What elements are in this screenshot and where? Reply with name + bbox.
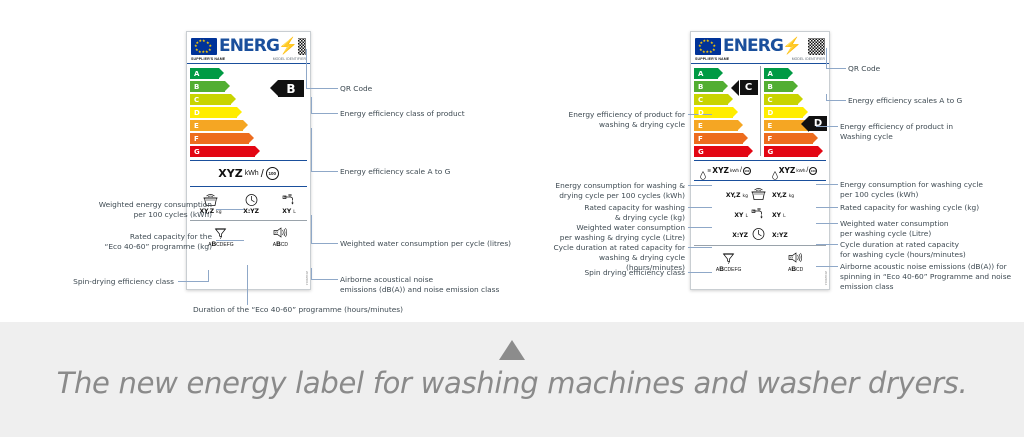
supplier-name: SUPPLIER'S NAME bbox=[191, 57, 225, 61]
eu-flag-icon: ★★ ★★ ★★ ★★ ★★ ★ bbox=[695, 38, 721, 55]
model-identifier: MODEL IDENTIFIER bbox=[273, 57, 306, 61]
scale-letter-e: E bbox=[768, 122, 773, 130]
qr-code-icon bbox=[298, 38, 306, 55]
scale-letter-a: A bbox=[194, 70, 199, 78]
dual-scale-container: A B C D E F G C A B C D E F G D bbox=[691, 64, 829, 158]
hundred-cycles-icon: 100 bbox=[266, 167, 279, 180]
leader-scales-a-to-g bbox=[826, 100, 846, 101]
lightning-bolt-icon: ⚡ bbox=[782, 36, 802, 56]
scale-row-g: G bbox=[761, 145, 830, 158]
washing-drying-consumption: ≋ XYZ kWh / 100 bbox=[691, 163, 760, 178]
product-energy-class-mark: B bbox=[278, 80, 304, 97]
label-subheader: SUPPLIER'S NAME MODEL IDENTIFIER bbox=[187, 57, 310, 64]
leader-noise-emissions bbox=[311, 279, 338, 280]
divider-above-consumption-2 bbox=[694, 160, 826, 161]
spin-class-cell-2: ABCDEFG bbox=[716, 250, 742, 273]
leader-programme-duration bbox=[247, 265, 248, 305]
washing-class-mark: D bbox=[809, 116, 827, 131]
energy-value-washing: XYZ bbox=[779, 166, 796, 175]
divider-above-consumption bbox=[190, 160, 307, 161]
scale-row-f: F bbox=[761, 132, 830, 145]
annotation-capacity-washing-drying: Rated capacity for washing & drying cycl… bbox=[560, 203, 685, 223]
caption-text: The new energy label for washing machine… bbox=[0, 366, 1024, 400]
annotation-water-washing-cycle: Weighted water consumption per washing c… bbox=[840, 219, 1000, 239]
svg-text:XY: XY bbox=[790, 257, 794, 260]
washer-dryer-energy-label: ★★ ★★ ★★ ★★ ★★ ★ ENERG ⚡ SUPPLIER'S NAME… bbox=[690, 31, 830, 290]
duration-row: X:YZ X:YZ bbox=[691, 223, 829, 243]
annotation-class-of-product: Energy efficiency class of product bbox=[340, 109, 465, 119]
annotation-class-washing-drying: Energy efficiency of product for washing… bbox=[550, 110, 685, 130]
leader-class-of-product-v bbox=[311, 97, 312, 114]
water-row: XY L XY L bbox=[691, 203, 829, 223]
water-drop-icon bbox=[700, 167, 706, 175]
noise-speaker-icon: XY bbox=[272, 225, 289, 240]
energy-efficiency-scale: A B C D E F G B bbox=[187, 64, 310, 158]
clock-icon bbox=[243, 192, 260, 207]
scale-row-a: A bbox=[761, 67, 830, 80]
dry-waves-icon: ≋ bbox=[707, 168, 711, 174]
leader-capacity-washing-cycle bbox=[816, 207, 838, 208]
duration-pictogram-cell: X:YZ bbox=[243, 192, 260, 215]
leader-weighted-water bbox=[311, 243, 338, 244]
energy-unit: kWh bbox=[796, 168, 805, 173]
water-tap-icon bbox=[281, 192, 298, 207]
hundred-cycles-icon: 100 bbox=[809, 167, 817, 175]
leader-energy-washing-cycle bbox=[816, 184, 838, 185]
annotation-qr-code: QR Code bbox=[340, 84, 372, 94]
scale-row-f: F bbox=[691, 132, 760, 145]
annotation-capacity-washing-cycle: Rated capacity for washing cycle (kg) bbox=[840, 203, 1000, 213]
leader-weighted-water-v bbox=[311, 215, 312, 244]
scale-letter-b: B bbox=[194, 83, 199, 91]
divider-above-classes bbox=[190, 220, 307, 221]
annotation-spin-drying-class: Spin-drying efficiency class bbox=[62, 277, 174, 287]
scale-letter-f: F bbox=[698, 135, 703, 143]
washing-consumption: XYZ kWh / 100 bbox=[760, 163, 829, 178]
leader-qr-code bbox=[306, 88, 338, 89]
washing-scale-column: A B C D E F G D bbox=[761, 64, 830, 158]
water-pictogram-cell: XY L bbox=[281, 192, 298, 215]
duration-washing-value: X:YZ bbox=[772, 232, 788, 239]
annotation-scale-a-to-g: Energy efficiency scale A to G bbox=[340, 167, 450, 177]
scale-letter-a: A bbox=[768, 70, 773, 78]
capacity-row: XY,Z kg XY,Z kg bbox=[691, 183, 829, 203]
water-tap-icon bbox=[750, 206, 767, 221]
scale-letter-d: D bbox=[194, 109, 200, 117]
scale-row-a: A bbox=[691, 67, 760, 80]
divider-below-consumption-2 bbox=[694, 180, 826, 181]
leader-qr-code-2-v bbox=[826, 48, 827, 69]
noise-class-cell-2: XY ABCD bbox=[787, 250, 804, 273]
energy-consumption-row: XYZ kWh / 100 bbox=[187, 163, 310, 184]
scale-row-e: E bbox=[187, 119, 310, 132]
scale-letter-g: G bbox=[194, 148, 200, 156]
annotation-rated-capacity: Rated capacity for the “Eco 40-60” progr… bbox=[55, 232, 212, 252]
scale-letter-b: B bbox=[768, 83, 773, 91]
water-washing-drying-value: XY L bbox=[734, 212, 748, 219]
energy-unit: kWh bbox=[730, 168, 739, 173]
annotation-spin-drying-class-2: Spin drying efficiency class bbox=[580, 268, 685, 278]
divider-above-classes-2 bbox=[694, 245, 826, 246]
annotation-qr-code-2: QR Code bbox=[848, 64, 880, 74]
leader-weighted-energy bbox=[216, 209, 244, 210]
duration-value: X:YZ bbox=[243, 208, 259, 215]
annotation-water-washing-drying: Weighted water consumption per washing &… bbox=[553, 223, 685, 243]
energy-value-washing-drying: XYZ bbox=[712, 166, 729, 175]
scale-row-b: B bbox=[761, 80, 830, 93]
scale-row-c: C bbox=[761, 93, 830, 106]
caption-pointer-triangle-icon bbox=[499, 340, 525, 360]
hundred-cycles-icon: 100 bbox=[743, 167, 751, 175]
annotation-noise-emissions: Airborne acoustical noise emissions (dB(… bbox=[340, 275, 500, 295]
leader-water-washing-cycle bbox=[816, 223, 838, 224]
noise-class-cell: XY ABCD bbox=[272, 225, 289, 248]
scale-row-f: F bbox=[187, 132, 310, 145]
leader-class-washing-cycle bbox=[816, 126, 838, 127]
leader-qr-code-2 bbox=[826, 68, 846, 69]
leader-duration-washing-drying bbox=[688, 247, 712, 248]
leader-spin-drying-class-2 bbox=[688, 272, 712, 273]
laundry-basket-icon bbox=[750, 186, 767, 201]
spin-drying-class-2: ABCDEFG bbox=[716, 266, 742, 273]
washing-drying-scale-column: A B C D E F G C bbox=[691, 64, 760, 158]
energy-consumption-value: XYZ bbox=[218, 167, 242, 180]
lightning-bolt-icon: ⚡ bbox=[278, 36, 298, 56]
noise-emission-class: ABCD bbox=[273, 241, 288, 248]
scale-letter-e: E bbox=[698, 122, 703, 130]
leader-scale-a-to-g-v bbox=[311, 128, 312, 172]
divider-below-consumption bbox=[190, 186, 307, 187]
scale-row-g: G bbox=[691, 145, 760, 158]
leader-class-of-product bbox=[311, 113, 338, 114]
scale-letter-d: D bbox=[698, 109, 704, 117]
water-washing-value: XY L bbox=[772, 212, 786, 219]
noise-speaker-icon: XY bbox=[787, 250, 804, 265]
spin-drying-icon bbox=[212, 225, 229, 240]
scale-letter-c: C bbox=[698, 96, 703, 104]
scale-row-d: D bbox=[691, 106, 760, 119]
leader-noise-emissions-2 bbox=[816, 266, 838, 267]
regulation-reference: 2019/2014 bbox=[305, 271, 309, 285]
leader-capacity-washing-drying bbox=[688, 207, 712, 208]
scale-row-d: D bbox=[187, 106, 310, 119]
scale-letter-e: E bbox=[194, 122, 199, 130]
scale-letter-g: G bbox=[698, 148, 704, 156]
water-value: XY L bbox=[282, 208, 296, 215]
scale-letter-d: D bbox=[768, 109, 774, 117]
scale-letter-g: G bbox=[768, 148, 774, 156]
scale-row-e: E bbox=[691, 119, 760, 132]
scale-letter-b: B bbox=[698, 83, 703, 91]
model-identifier: MODEL IDENTIFIER bbox=[792, 57, 825, 61]
energ-wordmark: ENERG bbox=[219, 38, 279, 55]
leader-rated-capacity bbox=[216, 240, 244, 241]
annotation-weighted-energy: Weighted energy consumption per 100 cycl… bbox=[60, 200, 212, 220]
scale-letter-f: F bbox=[768, 135, 773, 143]
energ-wordmark: ENERG bbox=[723, 38, 783, 55]
annotation-noise-emissions-2: Airborne acoustic noise emissions (dB(A)… bbox=[840, 262, 1015, 292]
scale-letter-c: C bbox=[194, 96, 199, 104]
scale-letter-c: C bbox=[768, 96, 773, 104]
dual-energy-consumption-row: ≋ XYZ kWh / 100 XYZ kWh / 100 bbox=[691, 163, 829, 178]
leader-scales-a-to-g-v bbox=[826, 94, 827, 101]
leader-qr-code-v bbox=[306, 49, 307, 89]
water-drop-icon bbox=[772, 167, 778, 175]
scale-letter-a: A bbox=[698, 70, 703, 78]
annotation-duration-washing-cycle: Cycle duration at rated capacity for was… bbox=[840, 240, 1000, 260]
leader-spin-drying-class bbox=[178, 281, 208, 282]
annotation-programme-duration: Duration of the “Eco 40-60” programme (h… bbox=[148, 305, 448, 315]
label-header: ★★ ★★ ★★ ★★ ★★ ★ ENERG ⚡ bbox=[187, 32, 310, 57]
label-subheader-2: SUPPLIER'S NAME MODEL IDENTIFIER bbox=[691, 57, 829, 64]
annotation-scales-a-to-g: Energy efficiency scales A to G bbox=[848, 96, 962, 106]
leader-scale-a-to-g bbox=[311, 171, 338, 172]
capacity-washing-value: XY,Z kg bbox=[772, 192, 794, 199]
washing-drying-class-mark: C bbox=[740, 80, 758, 95]
scale-letter-f: F bbox=[194, 135, 199, 143]
label-header-2: ★★ ★★ ★★ ★★ ★★ ★ ENERG ⚡ bbox=[691, 32, 829, 57]
scale-row-g: G bbox=[187, 145, 310, 158]
leader-spin-drying-class-v bbox=[208, 270, 209, 282]
capacity-washing-drying-value: XY,Z kg bbox=[726, 192, 748, 199]
duration-washing-drying-value: X:YZ bbox=[732, 232, 748, 239]
annotation-energy-washing-cycle: Energy consumption for washing cycle per… bbox=[840, 180, 1000, 200]
leader-energy-washing-drying bbox=[688, 185, 712, 186]
leader-noise-emissions-v bbox=[311, 268, 312, 280]
leader-duration-washing-cycle bbox=[816, 244, 838, 245]
spin-drying-icon bbox=[720, 250, 737, 265]
noise-emission-class-2: ABCD bbox=[788, 266, 803, 273]
scale-row-a: A bbox=[187, 67, 310, 80]
energy-consumption-unit: kWh bbox=[245, 170, 259, 177]
leader-water-washing-drying bbox=[688, 227, 712, 228]
supplier-name: SUPPLIER'S NAME bbox=[695, 57, 729, 61]
annotation-energy-washing-drying: Energy consumption for washing & drying … bbox=[545, 181, 685, 201]
qr-code-icon bbox=[808, 38, 825, 55]
svg-text:XY: XY bbox=[275, 232, 279, 235]
per-slash: / bbox=[806, 167, 808, 174]
per-slash: / bbox=[740, 167, 742, 174]
per-slash: / bbox=[261, 168, 264, 180]
annotation-weighted-water: Weighted water consumption per cycle (li… bbox=[340, 239, 511, 249]
annotation-class-washing-cycle: Energy efficiency of product in Washing … bbox=[840, 122, 970, 142]
clock-icon bbox=[750, 226, 767, 241]
eu-flag-icon: ★★ ★★ ★★ ★★ ★★ ★ bbox=[191, 38, 217, 55]
regulation-reference-2: 2019/2014 bbox=[824, 271, 828, 285]
